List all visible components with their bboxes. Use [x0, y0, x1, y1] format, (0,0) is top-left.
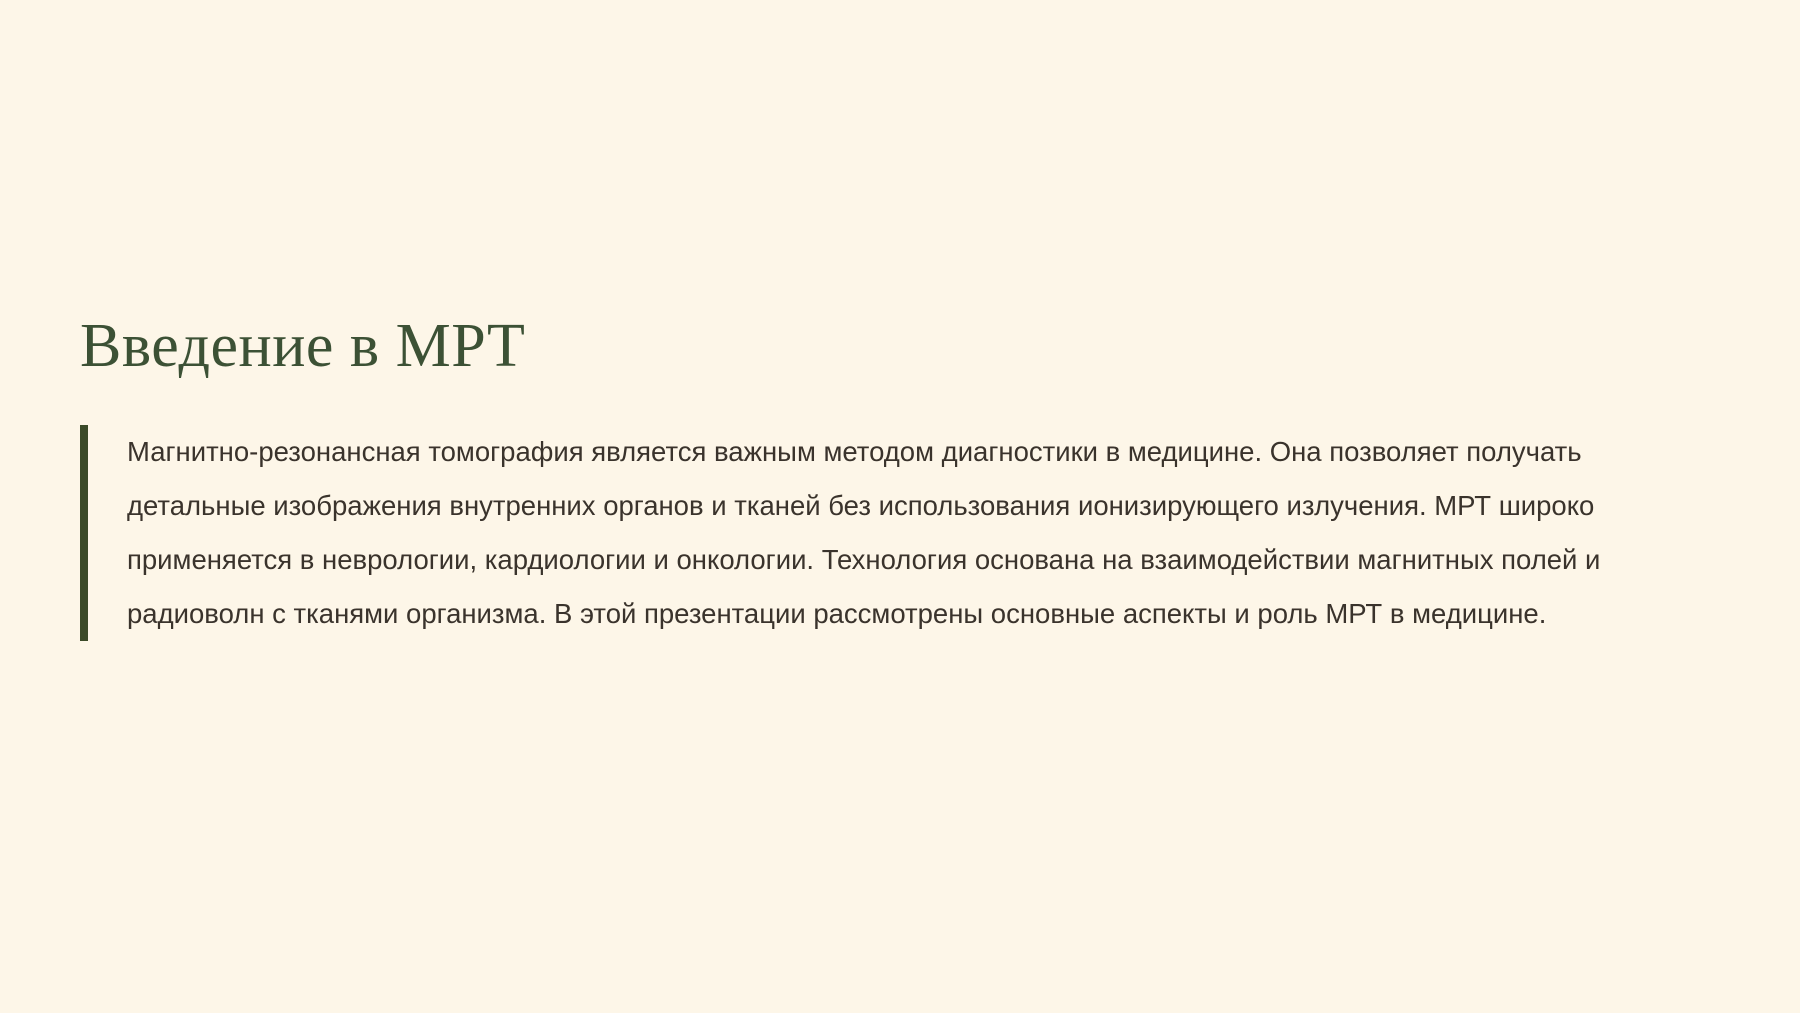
body-text-container: Магнитно-резонансная томография является…	[88, 425, 1720, 641]
slide-content-container: Введение в МРТ Магнитно-резонансная томо…	[80, 312, 1720, 641]
page-title: Введение в МРТ	[80, 312, 1720, 381]
presentation-slide: Введение в МРТ Магнитно-резонансная томо…	[0, 0, 1800, 1013]
body-quote-block: Магнитно-резонансная томография является…	[80, 425, 1720, 641]
body-paragraph: Магнитно-резонансная томография является…	[127, 425, 1720, 641]
accent-bar	[80, 425, 88, 641]
